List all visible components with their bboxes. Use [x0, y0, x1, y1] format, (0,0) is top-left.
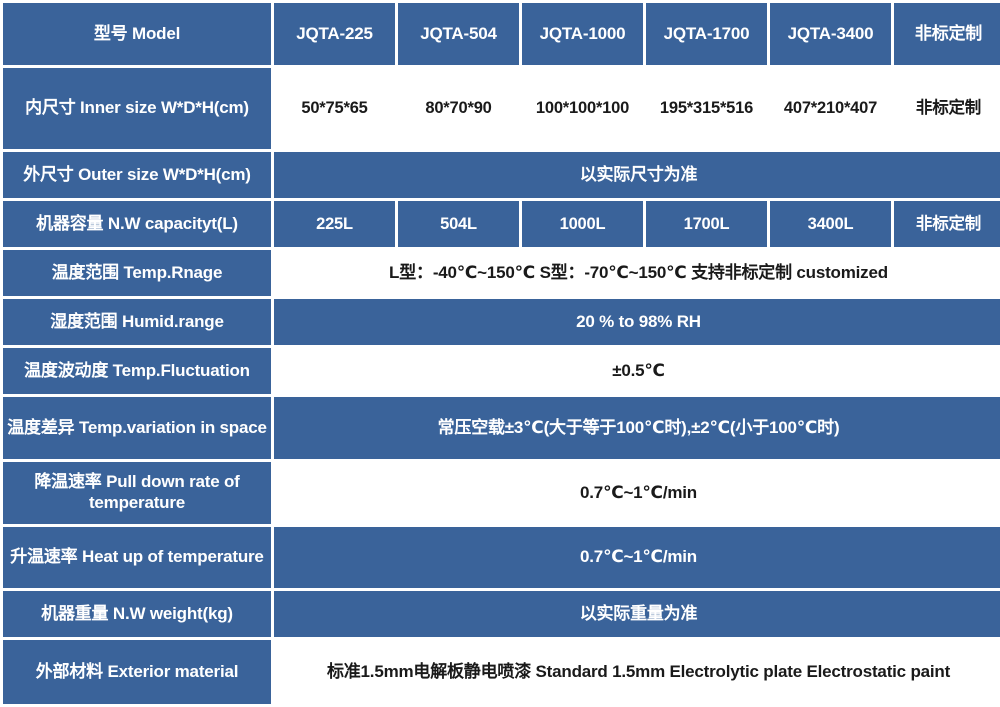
cell-capacity-4: 3400L — [770, 201, 891, 247]
row-label-temp-variation: 温度差异 Temp.variation in space — [3, 397, 271, 459]
table-row-exterior-material: 外部材料 Exterior material 标准1.5mm电解板静电喷漆 St… — [3, 640, 1000, 704]
column-header-model-0: JQTA-225 — [274, 3, 395, 65]
row-label-humidity-range: 湿度范围 Humid.range — [3, 299, 271, 345]
cell-capacity-5: 非标定制 — [894, 201, 1000, 247]
cell-inner-size-0: 50*75*65 — [274, 68, 395, 149]
table-row-inner-size: 内尺寸 Inner size W*D*H(cm) 50*75*65 80*70*… — [3, 68, 1000, 149]
column-header-model-3: JQTA-1700 — [646, 3, 767, 65]
cell-pull-down-rate-value: 0.7℃~1℃/min — [274, 462, 1000, 524]
column-header-model-label: 型号 Model — [3, 3, 271, 65]
cell-outer-size-value: 以实际尺寸为准 — [274, 152, 1000, 198]
cell-inner-size-5: 非标定制 — [894, 68, 1000, 149]
cell-exterior-material-value: 标准1.5mm电解板静电喷漆 Standard 1.5mm Electrolyt… — [274, 640, 1000, 704]
cell-inner-size-3: 195*315*516 — [646, 68, 767, 149]
cell-capacity-2: 1000L — [522, 201, 643, 247]
table-row-capacity: 机器容量 N.W capacityt(L) 225L 504L 1000L 17… — [3, 201, 1000, 247]
table-row-heat-up-rate: 升温速率 Heat up of temperature 0.7℃~1℃/min — [3, 527, 1000, 588]
cell-capacity-0: 225L — [274, 201, 395, 247]
row-label-inner-size: 内尺寸 Inner size W*D*H(cm) — [3, 68, 271, 149]
column-header-model-4: JQTA-3400 — [770, 3, 891, 65]
row-label-temp-fluctuation: 温度波动度 Temp.Fluctuation — [3, 348, 271, 394]
table-row-weight: 机器重量 N.W weight(kg) 以实际重量为准 — [3, 591, 1000, 637]
cell-capacity-1: 504L — [398, 201, 519, 247]
table-row-temp-fluctuation: 温度波动度 Temp.Fluctuation ±0.5℃ — [3, 348, 1000, 394]
table-row-outer-size: 外尺寸 Outer size W*D*H(cm) 以实际尺寸为准 — [3, 152, 1000, 198]
row-label-weight: 机器重量 N.W weight(kg) — [3, 591, 271, 637]
row-label-capacity: 机器容量 N.W capacityt(L) — [3, 201, 271, 247]
row-label-exterior-material: 外部材料 Exterior material — [3, 640, 271, 704]
cell-inner-size-1: 80*70*90 — [398, 68, 519, 149]
cell-humidity-range-value: 20 % to 98% RH — [274, 299, 1000, 345]
cell-weight-value: 以实际重量为准 — [274, 591, 1000, 637]
cell-temp-variation-value: 常压空载±3℃(大于等于100℃时),±2℃(小于100℃时) — [274, 397, 1000, 459]
specification-table: 型号 Model JQTA-225 JQTA-504 JQTA-1000 JQT… — [0, 0, 1000, 707]
cell-inner-size-4: 407*210*407 — [770, 68, 891, 149]
cell-temp-fluctuation-value: ±0.5℃ — [274, 348, 1000, 394]
row-label-heat-up-rate: 升温速率 Heat up of temperature — [3, 527, 271, 588]
table-header-row: 型号 Model JQTA-225 JQTA-504 JQTA-1000 JQT… — [3, 3, 1000, 65]
row-label-pull-down-rate: 降温速率 Pull down rate of temperature — [3, 462, 271, 524]
cell-capacity-3: 1700L — [646, 201, 767, 247]
table-row-temp-variation: 温度差异 Temp.variation in space 常压空载±3℃(大于等… — [3, 397, 1000, 459]
cell-temp-range-value: L型：-40℃~150℃ S型：-70℃~150℃ 支持非标定制 customi… — [274, 250, 1000, 296]
column-header-model-5: 非标定制 — [894, 3, 1000, 65]
table-row-pull-down-rate: 降温速率 Pull down rate of temperature 0.7℃~… — [3, 462, 1000, 524]
row-label-temp-range: 温度范围 Temp.Rnage — [3, 250, 271, 296]
cell-heat-up-rate-value: 0.7℃~1℃/min — [274, 527, 1000, 588]
column-header-model-2: JQTA-1000 — [522, 3, 643, 65]
cell-inner-size-2: 100*100*100 — [522, 68, 643, 149]
row-label-outer-size: 外尺寸 Outer size W*D*H(cm) — [3, 152, 271, 198]
table-row-temp-range: 温度范围 Temp.Rnage L型：-40℃~150℃ S型：-70℃~150… — [3, 250, 1000, 296]
table-row-humidity-range: 湿度范围 Humid.range 20 % to 98% RH — [3, 299, 1000, 345]
column-header-model-1: JQTA-504 — [398, 3, 519, 65]
table-body: 型号 Model JQTA-225 JQTA-504 JQTA-1000 JQT… — [3, 3, 1000, 704]
